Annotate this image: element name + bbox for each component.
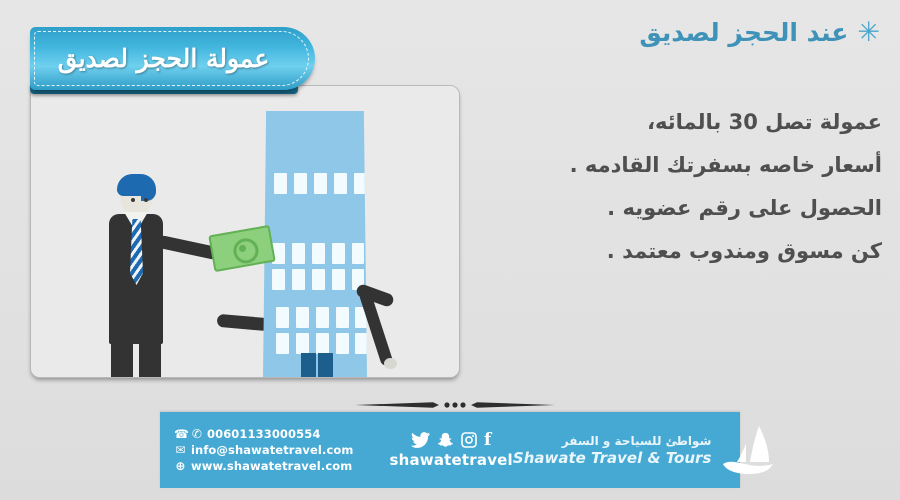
- logo-arabic-name: شواطئ للسياحة و السفر: [513, 434, 711, 448]
- social-block: f shawatetravel: [389, 432, 512, 469]
- sailboat-icon: [719, 424, 777, 476]
- website-url: www.shawatetravel.com: [191, 458, 352, 474]
- contact-phone-row[interactable]: ☎ ✆ 00601133000554: [174, 426, 353, 442]
- building-door-left: [301, 353, 316, 378]
- illustration-canvas: [31, 86, 459, 377]
- promo-poster: عمولة الحجز لصديق ✳ عند الحجز لصديق عمول…: [0, 0, 900, 500]
- building-left-arm: [217, 314, 270, 331]
- email-address: info@shawatetravel.com: [191, 442, 353, 458]
- ribbon-label: عمولة الحجز لصديق: [30, 27, 315, 90]
- logo-english-name: Shawate Travel & Tours: [513, 449, 711, 467]
- whatsapp-icon: ✆: [191, 428, 203, 440]
- ornament-divider: [355, 398, 555, 412]
- ribbon-banner: عمولة الحجز لصديق: [30, 27, 315, 90]
- list-item: عمولة تصل 30 بالمائه،: [482, 112, 882, 133]
- man-eye-left: [131, 198, 135, 202]
- contact-block: ☎ ✆ 00601133000554 ✉ info@shawatetravel.…: [160, 426, 353, 474]
- snapchat-icon[interactable]: [437, 432, 454, 449]
- instagram-icon[interactable]: [461, 432, 477, 448]
- company-logo: شواطئ للسياحة و السفر Shawate Travel & T…: [513, 424, 793, 476]
- contact-email-row[interactable]: ✉ info@shawatetravel.com: [174, 442, 353, 458]
- flower-asterisk-icon: ✳: [857, 19, 880, 46]
- building-right-hand: [384, 358, 397, 369]
- list-item: أسعار خاصه بسفرتك القادمه .: [482, 155, 882, 176]
- list-item: الحصول على رقم عضويه .: [482, 198, 882, 219]
- globe-icon: ⊕: [174, 460, 187, 472]
- envelope-icon: ✉: [174, 444, 187, 456]
- facebook-icon[interactable]: f: [484, 432, 491, 449]
- man-eye-right: [144, 198, 148, 202]
- footer-bar: ☎ ✆ 00601133000554 ✉ info@shawatetravel.…: [160, 412, 740, 488]
- illustration-panel: [30, 85, 460, 378]
- list-item: كن مسوق ومندوب معتمد .: [482, 241, 882, 262]
- building-door-right: [318, 353, 333, 378]
- contact-website-row[interactable]: ⊕ www.shawatetravel.com: [174, 458, 353, 474]
- building-graphic: [263, 111, 367, 378]
- social-handle: shawatetravel: [389, 451, 512, 469]
- social-icon-row: f: [389, 432, 512, 449]
- man-necktie: [130, 219, 143, 285]
- logo-text: شواطئ للسياحة و السفر Shawate Travel & T…: [513, 434, 711, 467]
- benefits-list: عمولة تصل 30 بالمائه، أسعار خاصه بسفرتك …: [482, 112, 882, 284]
- phone-number: 00601133000554: [207, 426, 320, 442]
- twitter-icon[interactable]: [411, 432, 430, 448]
- page-title-text: عند الحجز لصديق: [639, 18, 848, 47]
- content-column: ✳ عند الحجز لصديق عمولة تصل 30 بالمائه، …: [470, 0, 900, 380]
- telephone-icon: ☎: [174, 428, 187, 440]
- page-title: ✳ عند الحجز لصديق: [639, 18, 880, 47]
